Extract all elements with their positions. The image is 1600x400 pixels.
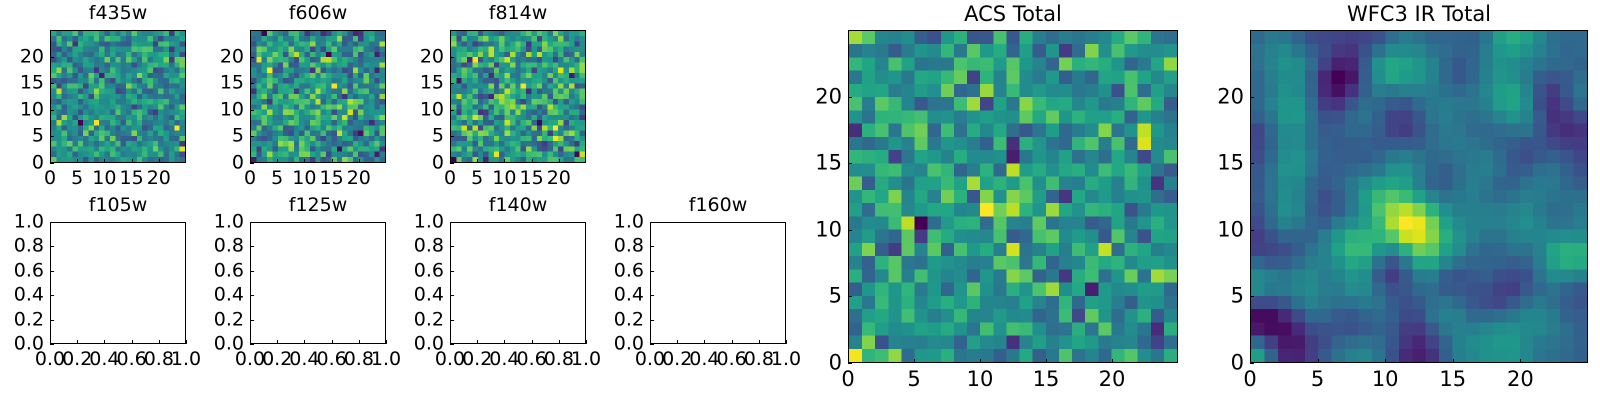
xticklabel-f125w-5: 1.0 [371,350,401,369]
ytick-f140w-0 [450,344,454,345]
yticklabel-acs-total-1: 5 [790,286,842,307]
xtick-f435w-3 [132,159,133,163]
yticklabel-f125w-0: 0.0 [192,335,244,354]
xtick-f160w-0 [650,340,651,344]
xtick-f140w-1 [477,340,478,344]
matplotlib-figure: f435w0510152005101520f606w05101520051015… [0,0,1600,400]
xticklabel-f160w-5: 1.0 [771,350,801,369]
yticklabel-f160w-1: 0.2 [592,310,644,329]
yticklabel-f435w-2: 10 [0,100,44,119]
yticklabel-f140w-3: 0.6 [392,261,444,280]
xticklabel-f125w-1: 0.2 [262,350,292,369]
ytick-acs-total-4 [848,97,852,98]
yticklabel-wfc3-ir-total-3: 15 [1192,153,1244,174]
xticklabel-f606w-2: 10 [292,169,316,188]
panel-f435w: f435w0510152005101520 [0,0,1600,400]
yticklabel-f125w-2: 0.4 [192,286,244,305]
xtick-f160w-4 [759,340,760,344]
yticklabel-f125w-4: 0.8 [192,237,244,256]
xticklabel-f105w-5: 1.0 [171,350,201,369]
yticklabel-f105w-1: 0.2 [0,310,44,329]
xticklabel-wfc3-ir-total-3: 15 [1439,369,1466,390]
xtick-f606w-2 [304,159,305,163]
ytick-f814w-2 [450,110,454,111]
panel-title-wfc3-ir-total: WFC3 IR Total [1250,4,1588,25]
yticklabel-f814w-1: 5 [392,127,444,146]
ytick-f814w-1 [450,136,454,137]
axes-acs-total [848,30,1178,363]
xtick-f160w-5 [786,340,787,344]
ytick-f160w-3 [650,271,654,272]
ytick-f105w-1 [50,320,54,321]
xticklabel-acs-total-3: 15 [1033,369,1060,390]
xticklabel-f814w-3: 15 [520,169,544,188]
xtick-acs-total-1 [914,359,915,363]
yticklabel-f140w-1: 0.2 [392,310,444,329]
yticklabel-f814w-2: 10 [392,100,444,119]
ytick-f140w-3 [450,271,454,272]
xtick-f125w-0 [250,340,251,344]
ytick-wfc3-ir-total-1 [1250,296,1254,297]
yticklabel-f606w-4: 20 [192,47,244,66]
yticklabel-f435w-0: 0 [0,154,44,173]
xticklabel-f105w-2: 0.4 [89,350,119,369]
xticklabel-f125w-0: 0.0 [235,350,265,369]
xtick-f140w-0 [450,340,451,344]
xticklabel-f435w-1: 5 [71,169,83,188]
ytick-f606w-0 [250,163,254,164]
xtick-f140w-3 [532,340,533,344]
ytick-f125w-3 [250,271,254,272]
xticklabel-f435w-3: 15 [120,169,144,188]
xtick-acs-total-2 [980,359,981,363]
xtick-f105w-4 [159,340,160,344]
ytick-f140w-5 [450,222,454,223]
ytick-f105w-0 [50,344,54,345]
xtick-f435w-1 [77,159,78,163]
axes-f435w [50,30,186,163]
ytick-f125w-2 [250,295,254,296]
xticklabel-f105w-0: 0.0 [35,350,65,369]
xticklabel-f140w-0: 0.0 [435,350,465,369]
xticklabel-f140w-1: 0.2 [462,350,492,369]
xtick-f125w-5 [386,340,387,344]
xticklabel-f140w-3: 0.6 [516,350,546,369]
ytick-acs-total-2 [848,230,852,231]
heatmap-acs-total [849,31,1177,362]
axes-f606w [250,30,386,163]
xtick-f140w-4 [559,340,560,344]
xticklabel-f160w-3: 0.6 [716,350,746,369]
xticklabel-f435w-4: 20 [147,169,171,188]
xticklabel-acs-total-4: 20 [1099,369,1126,390]
yticklabel-f160w-4: 0.8 [592,237,644,256]
ytick-f140w-1 [450,320,454,321]
yticklabel-f814w-4: 20 [392,47,444,66]
yticklabel-acs-total-0: 0 [790,353,842,374]
xtick-f814w-1 [477,159,478,163]
ytick-f160w-5 [650,222,654,223]
heatmap-f606w [251,31,385,162]
ytick-f160w-4 [650,246,654,247]
xticklabel-wfc3-ir-total-0: 0 [1243,369,1256,390]
xtick-f125w-1 [277,340,278,344]
panel-wfc3-ir-total: WFC3 IR Total0510152005101520 [0,0,1600,400]
xticklabel-f125w-4: 0.8 [344,350,374,369]
xticklabel-f160w-2: 0.4 [689,350,719,369]
xticklabel-acs-total-2: 10 [967,369,994,390]
axes-f140w [450,222,586,344]
yticklabel-wfc3-ir-total-4: 20 [1192,86,1244,107]
xticklabel-f140w-2: 0.4 [489,350,519,369]
ytick-f125w-5 [250,222,254,223]
ytick-f160w-1 [650,320,654,321]
yticklabel-f160w-3: 0.6 [592,261,644,280]
yticklabel-f606w-0: 0 [192,154,244,173]
xtick-wfc3-ir-total-3 [1453,359,1454,363]
ytick-f125w-1 [250,320,254,321]
xticklabel-f435w-0: 0 [44,169,56,188]
panel-f814w: f814w0510152005101520 [0,0,1600,400]
xtick-f606w-1 [277,159,278,163]
panel-title-f814w: f814w [450,4,586,23]
xtick-f105w-2 [104,340,105,344]
ytick-f814w-0 [450,163,454,164]
ytick-acs-total-3 [848,163,852,164]
panel-f140w: f140w0.00.20.40.60.81.00.00.20.40.60.81.… [0,0,1600,400]
xtick-f435w-4 [159,159,160,163]
yticklabel-f160w-5: 1.0 [592,213,644,232]
yticklabel-f105w-0: 0.0 [0,335,44,354]
axes-wfc3-ir-total [1250,30,1588,363]
xtick-f105w-1 [77,340,78,344]
ytick-f435w-4 [50,57,54,58]
xticklabel-f140w-4: 0.8 [544,350,574,369]
panel-f606w: f606w0510152005101520 [0,0,1600,400]
ytick-f435w-3 [50,83,54,84]
xticklabel-f606w-1: 5 [271,169,283,188]
xtick-f814w-2 [504,159,505,163]
heatmap-wfc3-ir-total [1251,31,1587,362]
yticklabel-f606w-3: 15 [192,74,244,93]
ytick-f814w-4 [450,57,454,58]
xtick-f814w-3 [532,159,533,163]
xtick-f125w-3 [332,340,333,344]
yticklabel-f105w-5: 1.0 [0,213,44,232]
yticklabel-f105w-2: 0.4 [0,286,44,305]
panel-title-acs-total: ACS Total [848,4,1178,25]
xtick-f125w-4 [359,340,360,344]
xtick-f125w-2 [304,340,305,344]
axes-f105w [50,222,186,344]
ytick-f435w-2 [50,110,54,111]
xticklabel-f814w-2: 10 [492,169,516,188]
ytick-f606w-4 [250,57,254,58]
xtick-wfc3-ir-total-4 [1520,359,1521,363]
xtick-f160w-3 [732,340,733,344]
yticklabel-f814w-3: 15 [392,74,444,93]
yticklabel-wfc3-ir-total-1: 5 [1192,286,1244,307]
xtick-f814w-0 [450,159,451,163]
ytick-f105w-5 [50,222,54,223]
ytick-f435w-0 [50,163,54,164]
yticklabel-f814w-0: 0 [392,154,444,173]
yticklabel-acs-total-4: 20 [790,86,842,107]
panel-f105w: f105w0.00.20.40.60.81.00.00.20.40.60.81.… [0,0,1600,400]
yticklabel-f105w-3: 0.6 [0,261,44,280]
yticklabel-wfc3-ir-total-0: 0 [1192,353,1244,374]
xticklabel-acs-total-0: 0 [841,369,854,390]
xtick-wfc3-ir-total-0 [1250,359,1251,363]
xtick-f606w-0 [250,159,251,163]
ytick-f160w-0 [650,344,654,345]
xticklabel-f160w-4: 0.8 [744,350,774,369]
yticklabel-f140w-0: 0.0 [392,335,444,354]
xtick-f140w-2 [504,340,505,344]
xtick-f606w-4 [359,159,360,163]
ytick-f160w-2 [650,295,654,296]
xticklabel-f160w-0: 0.0 [635,350,665,369]
xtick-f105w-3 [132,340,133,344]
xticklabel-f606w-4: 20 [347,169,371,188]
xticklabel-wfc3-ir-total-4: 20 [1507,369,1534,390]
yticklabel-acs-total-2: 10 [790,219,842,240]
xtick-f140w-5 [586,340,587,344]
xtick-f606w-3 [332,159,333,163]
xticklabel-acs-total-1: 5 [907,369,920,390]
yticklabel-f435w-3: 15 [0,74,44,93]
xticklabel-f105w-4: 0.8 [144,350,174,369]
xtick-f814w-4 [559,159,560,163]
yticklabel-f140w-2: 0.4 [392,286,444,305]
axes-f125w [250,222,386,344]
yticklabel-f160w-2: 0.4 [592,286,644,305]
axes-f160w [650,222,786,344]
xticklabel-f814w-0: 0 [444,169,456,188]
yticklabel-f125w-5: 1.0 [192,213,244,232]
xticklabel-f125w-3: 0.6 [316,350,346,369]
yticklabel-f125w-1: 0.2 [192,310,244,329]
ytick-f125w-4 [250,246,254,247]
ytick-acs-total-1 [848,296,852,297]
ytick-f105w-4 [50,246,54,247]
xticklabel-f606w-0: 0 [244,169,256,188]
ytick-f606w-1 [250,136,254,137]
ytick-wfc3-ir-total-4 [1250,97,1254,98]
xtick-acs-total-4 [1112,359,1113,363]
yticklabel-f125w-3: 0.6 [192,261,244,280]
xticklabel-f140w-5: 1.0 [571,350,601,369]
panel-acs-total: ACS Total0510152005101520 [0,0,1600,400]
xtick-acs-total-0 [848,359,849,363]
panel-f125w: f125w0.00.20.40.60.81.00.00.20.40.60.81.… [0,0,1600,400]
yticklabel-f160w-0: 0.0 [592,335,644,354]
yticklabel-wfc3-ir-total-2: 10 [1192,219,1244,240]
ytick-wfc3-ir-total-3 [1250,163,1254,164]
xticklabel-f435w-2: 10 [92,169,116,188]
ytick-f105w-3 [50,271,54,272]
xtick-wfc3-ir-total-2 [1385,359,1386,363]
yticklabel-f105w-4: 0.8 [0,237,44,256]
ytick-f105w-2 [50,295,54,296]
panel-title-f105w: f105w [50,196,186,215]
heatmap-f814w [451,31,585,162]
axes-f814w [450,30,586,163]
panel-title-f125w: f125w [250,196,386,215]
ytick-f140w-2 [450,295,454,296]
xtick-f435w-0 [50,159,51,163]
xtick-f160w-1 [677,340,678,344]
xtick-f105w-0 [50,340,51,344]
yticklabel-f606w-2: 10 [192,100,244,119]
yticklabel-f606w-1: 5 [192,127,244,146]
ytick-acs-total-0 [848,363,852,364]
xticklabel-f814w-4: 20 [547,169,571,188]
xticklabel-f160w-1: 0.2 [662,350,692,369]
panel-title-f606w: f606w [250,4,386,23]
ytick-f140w-4 [450,246,454,247]
ytick-f435w-1 [50,136,54,137]
ytick-f606w-2 [250,110,254,111]
xtick-acs-total-3 [1046,359,1047,363]
xticklabel-f814w-1: 5 [471,169,483,188]
yticklabel-acs-total-3: 15 [790,153,842,174]
yticklabel-f435w-1: 5 [0,127,44,146]
panel-title-f160w: f160w [650,196,786,215]
ytick-f814w-3 [450,83,454,84]
xtick-f105w-5 [186,340,187,344]
yticklabel-f435w-4: 20 [0,47,44,66]
xticklabel-f105w-3: 0.6 [116,350,146,369]
xticklabel-f606w-3: 15 [320,169,344,188]
xticklabel-wfc3-ir-total-2: 10 [1372,369,1399,390]
panel-title-f435w: f435w [50,4,186,23]
ytick-f125w-0 [250,344,254,345]
xtick-f160w-2 [704,340,705,344]
xtick-wfc3-ir-total-1 [1318,359,1319,363]
heatmap-f435w [51,31,185,162]
yticklabel-f140w-5: 1.0 [392,213,444,232]
ytick-wfc3-ir-total-2 [1250,230,1254,231]
yticklabel-f140w-4: 0.8 [392,237,444,256]
xticklabel-f125w-2: 0.4 [289,350,319,369]
xtick-f435w-2 [104,159,105,163]
ytick-wfc3-ir-total-0 [1250,363,1254,364]
xticklabel-wfc3-ir-total-1: 5 [1311,369,1324,390]
xticklabel-f105w-1: 0.2 [62,350,92,369]
panel-title-f140w: f140w [450,196,586,215]
ytick-f606w-3 [250,83,254,84]
panel-f160w: f160w0.00.20.40.60.81.00.00.20.40.60.81.… [0,0,1600,400]
